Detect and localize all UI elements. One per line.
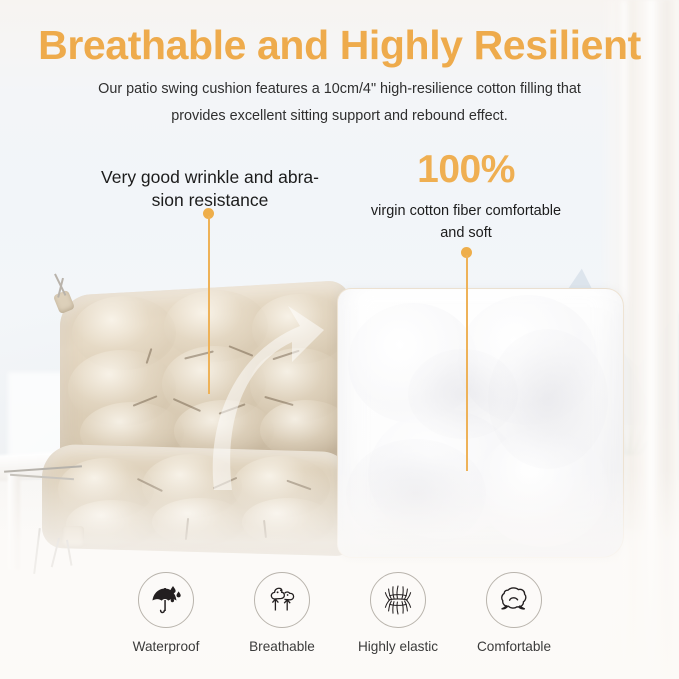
feature-label: Waterproof [133,639,200,654]
page-subtitle: Our patio swing cushion features a 10cm/… [60,76,619,130]
feature-waterproof: Waterproof [112,572,220,654]
feature-list: Waterproof Breatha [112,572,568,654]
feature-icon-circle [254,572,310,628]
callout-right-pointer-line [466,255,468,471]
callout-wrinkle-resistance: Very good wrinkle and abra- sion resista… [60,166,360,212]
product-infographic: Breathable and Highly Resilient Our pati… [0,0,679,679]
feature-label: Highly elastic [358,639,438,654]
feature-highly-elastic: Highly elastic [344,572,452,654]
feature-icon-circle [486,572,542,628]
feature-icon-circle [370,572,426,628]
cushion-backrest [60,280,350,472]
callout-right-line-1: virgin cotton fiber comfortable [326,200,606,222]
woven-mesh-icon [380,582,416,618]
page-title: Breathable and Highly Resilient [0,22,679,69]
pillow-smile-icon [496,582,532,618]
callout-left-line-1: Very good wrinkle and abra- [60,166,360,189]
callout-right-line-2: and soft [326,222,606,244]
feature-breathable: Breathable [228,572,336,654]
cotton-puffs-arrows-icon [265,583,299,617]
umbrella-raindrops-icon [149,583,183,617]
feature-label: Breathable [249,639,315,654]
subtitle-line-1: Our patio swing cushion features a 10cm/… [60,76,619,103]
callout-virgin-cotton: virgin cotton fiber comfortable and soft [326,200,606,244]
callout-percent-value: 100% [336,148,596,192]
feature-icon-circle [138,572,194,628]
feature-label: Comfortable [477,639,551,654]
callout-left-pointer-line [208,216,210,394]
feature-comfortable: Comfortable [460,572,568,654]
subtitle-line-2: provides excellent sitting support and r… [60,103,619,130]
